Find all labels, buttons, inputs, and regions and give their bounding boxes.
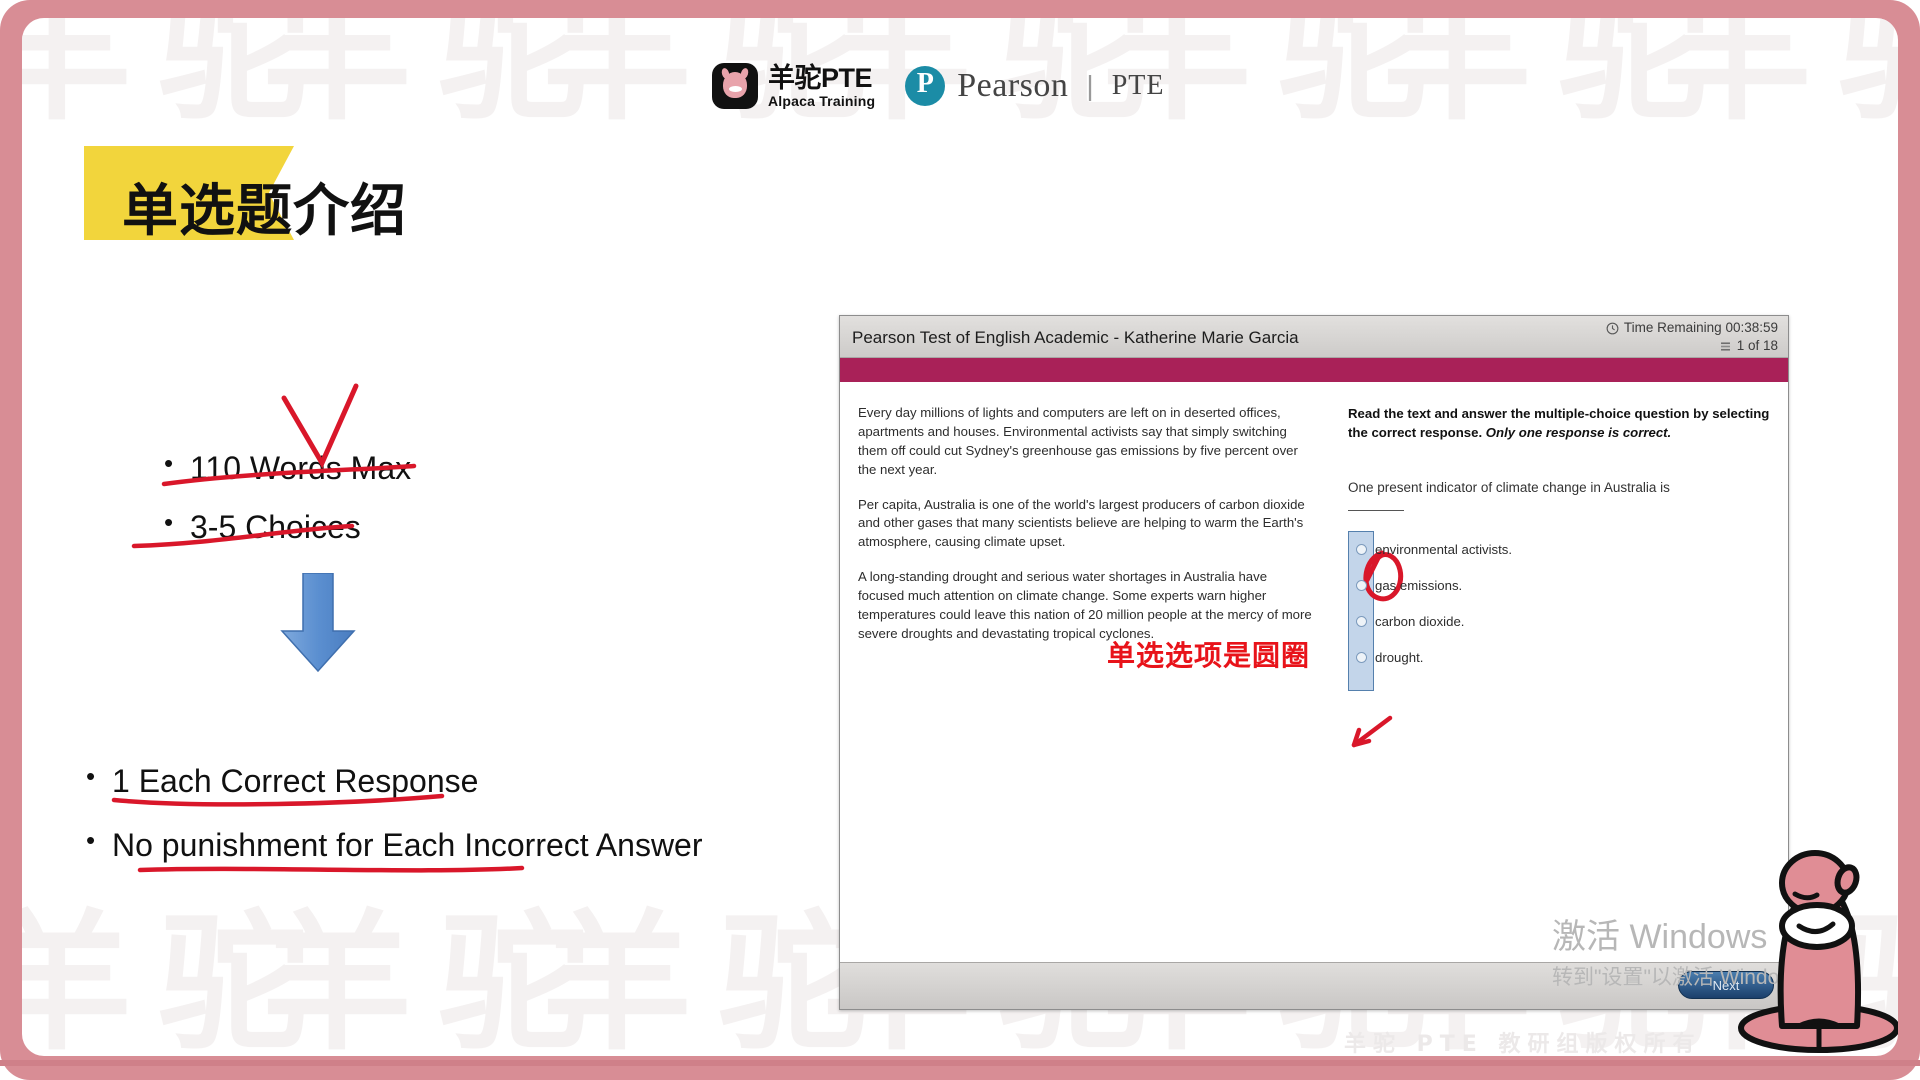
passage-paragraph: Every day millions of lights and compute…	[858, 404, 1316, 480]
pte-content-area: Every day millions of lights and compute…	[840, 382, 1788, 964]
pte-instruction: Read the text and answer the multiple-ch…	[1348, 404, 1770, 442]
alpaca-logo: 羊驼PTE Alpaca Training	[712, 63, 875, 109]
pte-instruction-emphasis: Only one response is correct.	[1486, 425, 1671, 440]
radio-button-icon[interactable]	[1356, 544, 1367, 555]
radio-button-icon[interactable]	[1356, 616, 1367, 627]
pte-titlebar: Pearson Test of English Academic - Kathe…	[840, 316, 1788, 358]
pte-progress-indicator: 1 of 18	[1737, 337, 1778, 355]
pte-accent-bar	[840, 358, 1788, 382]
alpaca-logo-name-cn: 羊驼PTE	[768, 65, 875, 92]
down-arrow-icon	[280, 573, 356, 678]
list-item: 110 Words Max	[190, 450, 411, 487]
list-item: 3-5 Choices	[190, 509, 411, 546]
pearson-logo-divider: |	[1086, 70, 1093, 102]
alpaca-logo-icon	[712, 63, 758, 109]
pearson-logo-suffix: PTE	[1112, 70, 1165, 102]
watermark-row: 羊驼	[1662, 18, 1898, 128]
logo-bar: 羊驼PTE Alpaca Training Pearson | PTE	[712, 63, 1164, 109]
passage-paragraph: Per capita, Australia is one of the worl…	[858, 496, 1316, 553]
pte-passage-panel: Every day millions of lights and compute…	[858, 404, 1338, 964]
pte-option-label: drought.	[1375, 650, 1423, 665]
pages-icon	[1719, 340, 1732, 353]
pte-option-row-1[interactable]: environmental activists.	[1354, 531, 1770, 567]
slide-root: 羊驼 羊驼 羊驼 羊驼 羊驼 羊驼 羊驼 羊驼 羊驼 羊驼 羊驼 羊驼 羊驼 羊…	[0, 0, 1920, 1080]
pte-question-panel: Read the text and answer the multiple-ch…	[1338, 404, 1770, 964]
pte-option-row-2[interactable]: gas emissions.	[1354, 567, 1770, 603]
list-item: No punishment for Each Incorrect Answer	[112, 827, 703, 864]
slide-bottom-accent	[0, 1060, 1920, 1066]
pte-option-label: gas emissions.	[1375, 578, 1462, 593]
passage-paragraph: A long-standing drought and serious wate…	[858, 568, 1316, 644]
bullet-list-top: 110 Words Max 3-5 Choices	[190, 450, 411, 568]
pearson-logo-word: Pearson	[957, 67, 1068, 105]
pte-window-title: Pearson Test of English Academic - Kathe…	[852, 328, 1299, 348]
pte-option-list: environmental activists. gas emissions. …	[1348, 531, 1770, 675]
radio-button-icon[interactable]	[1356, 652, 1367, 663]
pearson-logo: Pearson | PTE	[905, 66, 1164, 106]
pte-status-area: Time Remaining 00:38:59 1 of 18	[1606, 319, 1778, 355]
pearson-p-icon	[905, 66, 945, 106]
pte-question-blank	[1348, 501, 1404, 511]
page-title: 单选题介绍	[84, 146, 407, 247]
pte-question-text: One present indicator of climate change …	[1348, 480, 1770, 495]
pte-time-remaining: Time Remaining 00:38:59	[1624, 319, 1778, 337]
bullet-list-bottom: 1 Each Correct Response No punishment fo…	[112, 763, 703, 891]
alpaca-logo-name-en: Alpaca Training	[768, 94, 875, 108]
alpaca-mascot	[1737, 838, 1898, 1056]
page-title-text: 单选题介绍	[84, 146, 407, 247]
pte-test-window: Pearson Test of English Academic - Kathe…	[839, 315, 1789, 1010]
copyright-watermark: 羊驼 PTE 教研组版权所有	[1344, 1026, 1701, 1056]
list-item: 1 Each Correct Response	[112, 763, 703, 800]
annotation-note-cn: 单选选项是圆圈	[1107, 634, 1310, 674]
pte-option-row-4[interactable]: drought.	[1354, 639, 1770, 675]
slide-inner-canvas: 羊驼 羊驼 羊驼 羊驼 羊驼 羊驼 羊驼 羊驼 羊驼 羊驼 羊驼 羊驼 羊驼 羊…	[22, 18, 1898, 1056]
clock-icon	[1606, 322, 1619, 335]
pte-option-row-3[interactable]: carbon dioxide.	[1354, 603, 1770, 639]
radio-button-icon[interactable]	[1356, 580, 1367, 591]
pte-option-label: environmental activists.	[1375, 542, 1512, 557]
pte-option-label: carbon dioxide.	[1375, 614, 1464, 629]
